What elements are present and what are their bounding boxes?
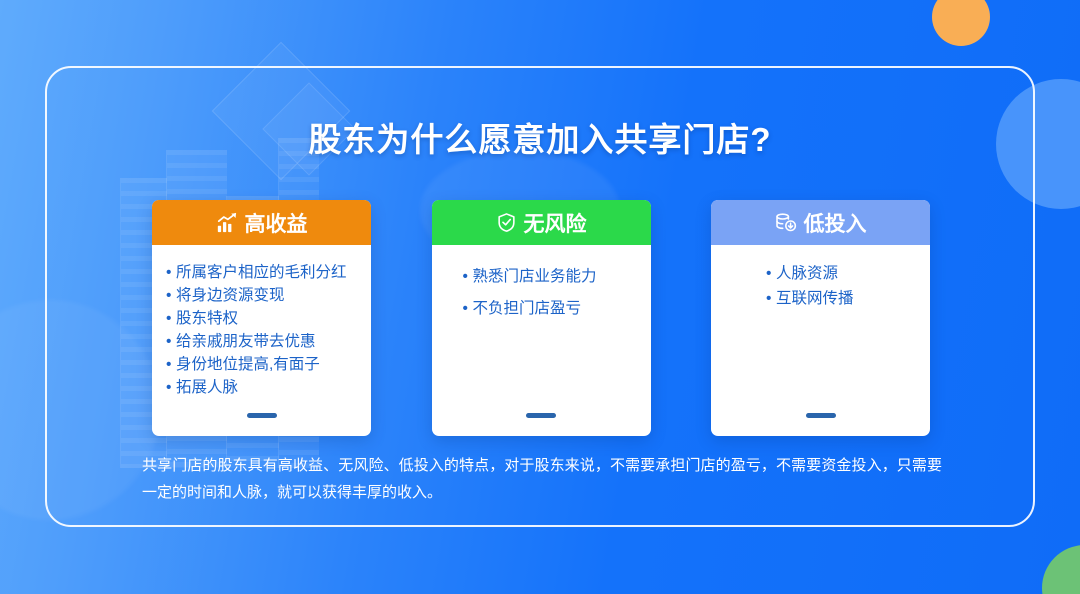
card-low-investment-bullet-list: 人脉资源 互联网传播 xyxy=(761,261,930,311)
coins-download-icon xyxy=(775,212,797,234)
list-item: 股东特权 xyxy=(161,307,371,330)
card-high-return-header: 高收益 xyxy=(152,200,371,245)
card-no-risk-body: 熟悉门店业务能力 不负担门店盈亏 xyxy=(432,245,651,436)
card-no-risk-header: 无风险 xyxy=(432,200,651,245)
card-high-return-bullet-list: 所属客户相应的毛利分红 将身边资源变现 股东特权 给亲戚朋友带去优惠 身份地位提… xyxy=(161,261,371,399)
bar-chart-growth-icon xyxy=(216,212,238,234)
list-item: 互联网传播 xyxy=(761,286,930,311)
card-high-return-body: 所属客户相应的毛利分红 将身边资源变现 股东特权 给亲戚朋友带去优惠 身份地位提… xyxy=(152,245,371,436)
list-item: 身份地位提高,有面子 xyxy=(161,353,371,376)
card-no-risk-bullet-list: 熟悉门店业务能力 不负担门店盈亏 xyxy=(458,261,651,325)
card-low-investment-body: 人脉资源 互联网传播 xyxy=(711,245,930,436)
list-item: 熟悉门店业务能力 xyxy=(458,261,651,293)
card-high-return-title: 高收益 xyxy=(245,208,308,238)
list-item: 将身边资源变现 xyxy=(161,284,371,307)
card-high-return[interactable]: 高收益 所属客户相应的毛利分红 将身边资源变现 股东特权 给亲戚朋友带去优惠 身… xyxy=(152,200,371,436)
card-accent-dash xyxy=(526,413,556,418)
decorative-circle-orange xyxy=(932,0,990,46)
cards-row: 高收益 所属客户相应的毛利分红 将身边资源变现 股东特权 给亲戚朋友带去优惠 身… xyxy=(152,200,930,436)
summary-paragraph: 共享门店的股东具有高收益、无风险、低投入的特点，对于股东来说，不需要承担门店的盈… xyxy=(142,452,942,506)
slide-title: 股东为什么愿意加入共享门店? xyxy=(0,113,1080,161)
decorative-circle-green xyxy=(1042,545,1080,594)
shield-check-icon xyxy=(496,212,517,233)
list-item: 人脉资源 xyxy=(761,261,930,286)
list-item: 不负担门店盈亏 xyxy=(458,293,651,325)
card-low-investment-title: 低投入 xyxy=(804,208,867,238)
list-item: 拓展人脉 xyxy=(161,376,371,399)
list-item: 所属客户相应的毛利分红 xyxy=(161,261,371,284)
card-low-investment[interactable]: 低投入 人脉资源 互联网传播 xyxy=(711,200,930,436)
slide-stage: 股东为什么愿意加入共享门店? 高收益 所属客户相应的毛利分 xyxy=(0,0,1080,594)
card-accent-dash xyxy=(247,413,277,418)
card-low-investment-header: 低投入 xyxy=(711,200,930,245)
list-item: 给亲戚朋友带去优惠 xyxy=(161,330,371,353)
card-accent-dash xyxy=(806,413,836,418)
card-no-risk-title: 无风险 xyxy=(524,208,587,238)
card-no-risk[interactable]: 无风险 熟悉门店业务能力 不负担门店盈亏 xyxy=(432,200,651,436)
